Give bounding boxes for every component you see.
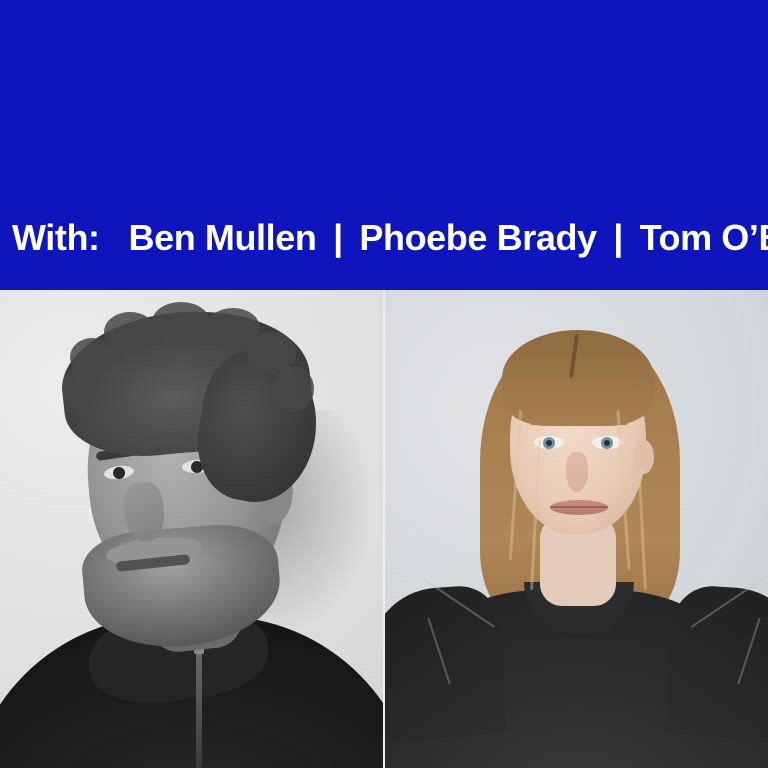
- portrait-right: [384, 290, 768, 768]
- title-line-1: Artist Talk &: [0, 96, 768, 142]
- credits-separator-1: |: [326, 217, 350, 258]
- title-line-2: Research: [0, 144, 768, 192]
- photo-divider: [383, 290, 385, 768]
- credits-name-1: Ben Mullen: [128, 217, 316, 258]
- credits-line: With: Ben Mullen | Phoebe Brady | Tom O’…: [12, 216, 768, 259]
- portrait-left: [0, 290, 384, 768]
- event-poster: Artist Talk & Research With: Ben Mullen …: [0, 0, 768, 768]
- credits-name-3: Tom O’Brien: [640, 217, 768, 258]
- header-band: Artist Talk & Research With: Ben Mullen …: [0, 0, 768, 290]
- credits-separator-2: |: [606, 217, 630, 258]
- poster-title: Artist Talk & Research: [0, 96, 768, 192]
- credits-name-2: Phoebe Brady: [359, 217, 596, 258]
- credits-prefix: With:: [12, 217, 100, 258]
